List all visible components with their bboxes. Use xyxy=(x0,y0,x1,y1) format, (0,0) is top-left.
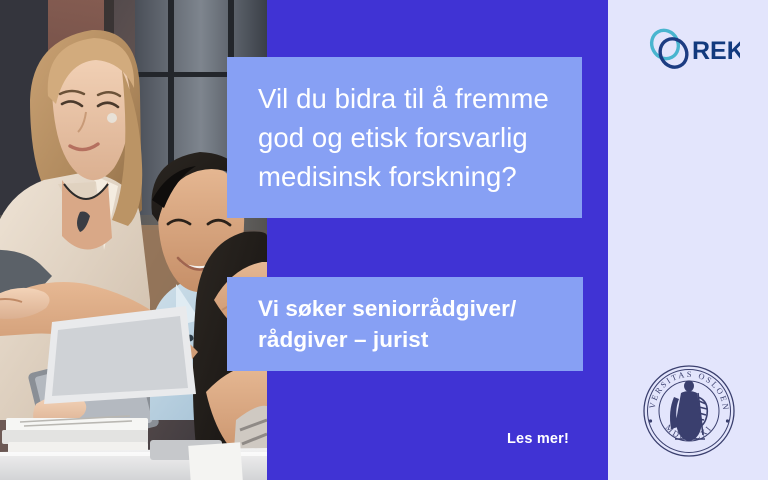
uio-seal: UNIVERSITAS OSLOENSIS MDCCCXI xyxy=(641,363,737,459)
rek-logo: REK xyxy=(648,27,740,73)
headline-line-3: medisinsk forskning? xyxy=(258,157,549,196)
headline-line-2: god og etisk forsvarlig xyxy=(258,118,549,157)
read-more-link[interactable]: Les mer! xyxy=(507,431,569,447)
rek-rings-icon xyxy=(648,27,692,72)
rek-wordmark: REK xyxy=(692,37,740,65)
job-title-line-2: rådgiver – jurist xyxy=(258,324,516,355)
job-title-text: Vi søker seniorrådgiver/ rådgiver – juri… xyxy=(258,293,516,355)
job-title-textbox: Vi søker seniorrådgiver/ rådgiver – juri… xyxy=(227,277,583,371)
recruitment-banner: Vil du bidra til å fremme god og etisk f… xyxy=(0,0,768,480)
headline-line-1: Vil du bidra til å fremme xyxy=(258,79,549,118)
job-title-line-1: Vi søker seniorrådgiver/ xyxy=(258,293,516,324)
headline-text: Vil du bidra til å fremme god og etisk f… xyxy=(258,79,549,196)
headline-textbox: Vil du bidra til å fremme god og etisk f… xyxy=(227,57,582,218)
